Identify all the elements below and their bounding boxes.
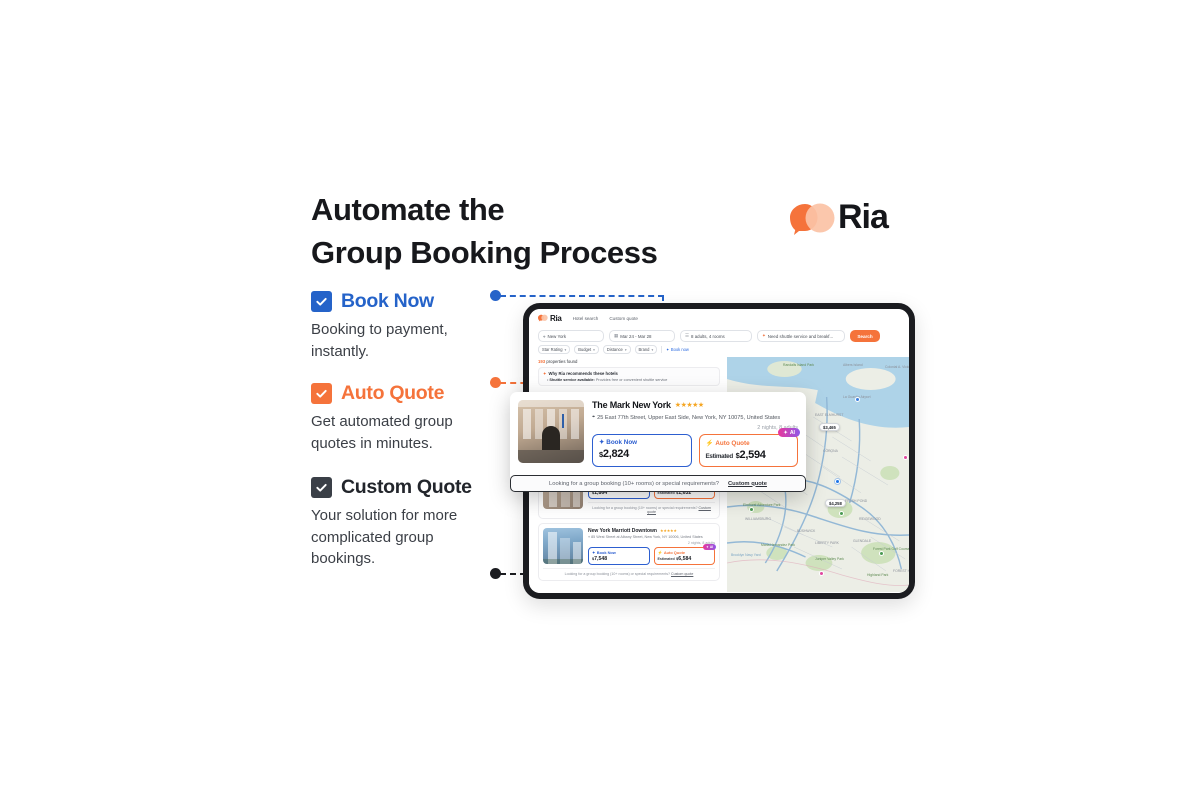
checkbox-checked-icon [311, 291, 332, 312]
hotel-name: New York Marriott Downtown [588, 528, 657, 534]
hotel-rating-stars: ★★★★★ [660, 528, 677, 533]
requirements-value: Need shuttle service and breakf... [768, 334, 833, 339]
auto-quote-box[interactable]: ✦AI ⚡ Auto Quote Estimated $2,594 [699, 434, 799, 467]
filter-label: Star Rating [542, 347, 562, 352]
hotel-address-text: 85 West Street at Albany Street, New Yor… [591, 535, 703, 539]
map-label: Highland Park [867, 573, 888, 577]
group-booking-text: Looking for a group booking (10+ rooms) … [549, 481, 719, 487]
hotel-thumbnail [543, 528, 583, 564]
map-label: Colonial A. Vickers Point Park [885, 365, 909, 369]
map-price-pin[interactable]: $3,465 [819, 423, 840, 431]
filter-brand[interactable]: Brand ▾ [635, 345, 658, 354]
recommendation-title-row: ✦ Why Ria recommends these hotels [543, 371, 715, 376]
map-label: FOREST HILLS [893, 569, 909, 573]
app-navbar: Ria Hotel search Custom quote [529, 309, 909, 327]
bolt-icon: ⚡ [658, 550, 663, 555]
pin-icon: ⌖ [543, 334, 546, 339]
bolt-icon: ⚡ [706, 439, 714, 447]
sparkle-icon: ✦ [762, 333, 766, 339]
hotel-stay: 2 nights, 8 adults [588, 541, 715, 545]
filter-label: Budget [578, 347, 591, 352]
feature-title: Custom Quote [341, 476, 472, 499]
map-label: RIDGEWOOD [859, 517, 881, 521]
page-title: Automate the Group Booking Process [311, 188, 771, 274]
hotel-stay: 2 nights, 8 adults [592, 425, 798, 431]
sparkle-icon: ✦ [543, 371, 547, 376]
feature-custom-quote: Custom Quote Your solution for more comp… [311, 476, 491, 570]
chevron-down-icon: ▾ [564, 348, 566, 352]
ria-logo-mark-icon [790, 203, 836, 235]
feature-description: Booking to payment, instantly. [311, 319, 483, 362]
auto-quote-label: Auto Quote [715, 440, 749, 447]
map-poi-marker[interactable] [879, 551, 884, 556]
checkbox-checked-icon [311, 383, 332, 404]
hotel-prices: ✦ Book Now $7,548 ✦AI ⚡ [588, 547, 715, 565]
chevron-down-icon: ▾ [651, 348, 653, 352]
book-now-filter-link[interactable]: ✦ Book now [666, 347, 689, 352]
map-poi-marker[interactable] [839, 511, 844, 516]
nav-link-hotel-search[interactable]: Hotel search [573, 316, 599, 321]
checkbox-checked-icon [311, 477, 332, 498]
book-now-price: $2,824 [599, 448, 685, 460]
book-now-link-label: Book now [671, 347, 689, 352]
map-poi-marker[interactable] [903, 455, 908, 460]
hotel-address: ⌖ 85 West Street at Albany Street, New Y… [588, 535, 715, 539]
map-selected-marker[interactable] [835, 479, 840, 484]
book-now-price: $7,548 [592, 556, 646, 562]
filter-label: Distance [607, 347, 623, 352]
app-logo-text: Ria [550, 314, 562, 323]
ria-logo-mark-icon [538, 314, 548, 322]
map-price-pin[interactable]: $4,258 [825, 499, 846, 507]
map-label: EAST ELMHURST [815, 413, 843, 417]
row-footer-link[interactable]: Custom quote [671, 572, 693, 576]
featured-hotel-prices: ✦ Book Now $2,824 ✦AI ⚡ Auto Quote Estim… [592, 434, 798, 467]
hotel-name: The Mark New York [592, 400, 671, 410]
person-icon: ☰ [685, 333, 689, 339]
map-label: FRESH POND [845, 499, 867, 503]
table-row[interactable]: New York Marriott Downtown ★★★★★ ⌖ 85 We… [538, 523, 720, 581]
book-now-box[interactable]: ✦ Book Now $2,824 [592, 434, 692, 467]
feature-auto-quote: Auto Quote Get automated group quotes in… [311, 382, 491, 454]
recommendation-item-text: Provides free or convenient shuttle serv… [595, 378, 668, 382]
nav-link-custom-quote[interactable]: Custom quote [609, 316, 638, 321]
location-input[interactable]: ⌖ New York [538, 330, 604, 342]
headline-line-1: Automate the [311, 192, 504, 227]
app-logo: Ria [538, 314, 562, 323]
search-button[interactable]: Search [850, 330, 880, 342]
ai-badge: ✦AI [778, 428, 800, 437]
feature-description: Get automated group quotes in minutes. [311, 411, 483, 454]
filter-label: Brand [639, 347, 650, 352]
map-label: CORONA [823, 449, 838, 453]
filter-star-rating[interactable]: Star Rating ▾ [538, 345, 570, 354]
filter-row: Star Rating ▾ Budget ▾ Distance ▾ Brand … [529, 342, 909, 354]
guests-input[interactable]: ☰ 8 adults, 4 rooms [680, 330, 752, 342]
divider [661, 346, 662, 353]
chevron-down-icon: ▾ [625, 348, 627, 352]
map-label: Maria Hernandez Park [761, 543, 795, 547]
hotel-info: New York Marriott Downtown ★★★★★ ⌖ 85 We… [588, 528, 715, 566]
hotel-thumbnail [518, 400, 584, 463]
book-now-label: Book Now [597, 550, 616, 555]
auto-quote-label-row: ⚡ Auto Quote [658, 550, 712, 555]
map-label: Randalls Island Park [783, 363, 814, 367]
map-label: LIBERTY PARK [815, 541, 839, 545]
map-label: Albers Island [843, 363, 863, 367]
guests-value: 8 adults, 4 rooms [691, 334, 725, 339]
ria-logo: Ria [790, 198, 895, 242]
sparkle-icon: ✦ [599, 439, 604, 446]
book-now-label: Book Now [606, 439, 637, 446]
book-now-box[interactable]: ✦ Book Now $7,548 [588, 547, 650, 565]
featured-hotel-title-row: The Mark New York ★★★★★ [592, 400, 798, 410]
auto-quote-box[interactable]: ✦AI ⚡ Auto Quote Estimated $6,584 [654, 547, 716, 565]
auto-quote-label-row: ⚡ Auto Quote [706, 439, 792, 447]
promo-graphic: Automate the Group Booking Process Ria B… [0, 0, 1200, 800]
requirements-input[interactable]: ✦ Need shuttle service and breakf... [757, 330, 845, 342]
recommendation-banner: ✦ Why Ria recommends these hotels • Shut… [538, 367, 720, 386]
row-footer-text: Looking for a group booking (10+ rooms) … [592, 506, 697, 510]
book-now-label-row: ✦ Book Now [592, 550, 646, 555]
book-now-label-row: ✦ Book Now [599, 439, 685, 446]
map-poi-marker[interactable] [749, 507, 754, 512]
map-label: GLENDALE [853, 539, 871, 543]
row-footer: Looking for a group booking (10+ rooms) … [543, 568, 715, 576]
ai-badge: ✦AI [703, 544, 716, 550]
map-poi-marker[interactable] [819, 571, 824, 576]
row-footer-text: Looking for a group booking (10+ rooms) … [565, 572, 670, 576]
headline-line-2: Group Booking Process [311, 231, 771, 274]
book-now-connector-horizontal [500, 295, 664, 297]
search-bar: ⌖ New York ▦ Mar 24 - Mar 28 ☰ 8 adults,… [529, 327, 909, 342]
map-label: BUSHWICK [797, 529, 815, 533]
recommendation-item: • Shuttle service available: Provides fr… [543, 378, 715, 382]
dates-input[interactable]: ▦ Mar 24 - Mar 28 [609, 330, 675, 342]
filter-budget[interactable]: Budget ▾ [574, 345, 599, 354]
hotel-rating-stars: ★★★★★ [675, 401, 704, 409]
map-label: WILLIAMSBURG [745, 517, 771, 521]
hotel-address-text: 25 East 77th Street, Upper East Side, Ne… [597, 415, 780, 421]
recommendation-item-bold: Shuttle service available: [549, 378, 594, 382]
feature-list: Book Now Booking to payment, instantly. … [311, 290, 491, 586]
pin-icon: ⌖ [592, 414, 595, 421]
row-footer: Looking for a group booking (10+ rooms) … [588, 502, 715, 514]
location-value: New York [548, 334, 567, 339]
map-label: Juniper Valley Park [815, 557, 844, 561]
map-poi-marker[interactable] [855, 397, 860, 402]
feature-title: Auto Quote [341, 382, 444, 405]
hotel-address: ⌖ 25 East 77th Street, Upper East Side, … [592, 414, 798, 421]
chevron-down-icon: ▾ [593, 348, 595, 352]
auto-quote-price: Estimated $2,594 [706, 449, 792, 461]
featured-hotel-main: The Mark New York ★★★★★ ⌖ 25 East 77th S… [510, 392, 806, 475]
map-label: Elmhurst Adventure Park [743, 503, 781, 507]
dates-value: Mar 24 - Mar 28 [620, 334, 651, 339]
results-count-label: properties found [545, 359, 577, 364]
auto-quote-price: Estimated $6,584 [658, 556, 712, 562]
featured-hotel-card[interactable]: The Mark New York ★★★★★ ⌖ 25 East 77th S… [510, 392, 806, 492]
feature-title: Book Now [341, 290, 434, 313]
pin-icon: ⌖ [588, 535, 590, 539]
auto-quote-label: Auto Quote [664, 550, 685, 555]
feature-description: Your solution for more complicated group… [311, 505, 483, 570]
sparkle-icon: ✦ [666, 347, 669, 352]
sparkle-icon: ✦ [592, 550, 595, 555]
recommendation-title: Why Ria recommends these hotels [549, 371, 618, 376]
results-count: 193 properties found [538, 357, 720, 367]
custom-quote-link[interactable]: Custom quote [728, 481, 767, 487]
filter-distance[interactable]: Distance ▾ [603, 345, 631, 354]
map-label: Brooklyn Navy Yard [731, 553, 761, 557]
map-label: Forest Park Golf Course [873, 547, 909, 551]
calendar-icon: ▦ [614, 333, 618, 339]
feature-book-now: Book Now Booking to payment, instantly. [311, 290, 491, 362]
group-booking-footer: Looking for a group booking (10+ rooms) … [510, 475, 806, 492]
featured-hotel-info: The Mark New York ★★★★★ ⌖ 25 East 77th S… [592, 400, 798, 467]
ria-logo-text: Ria [838, 198, 888, 237]
